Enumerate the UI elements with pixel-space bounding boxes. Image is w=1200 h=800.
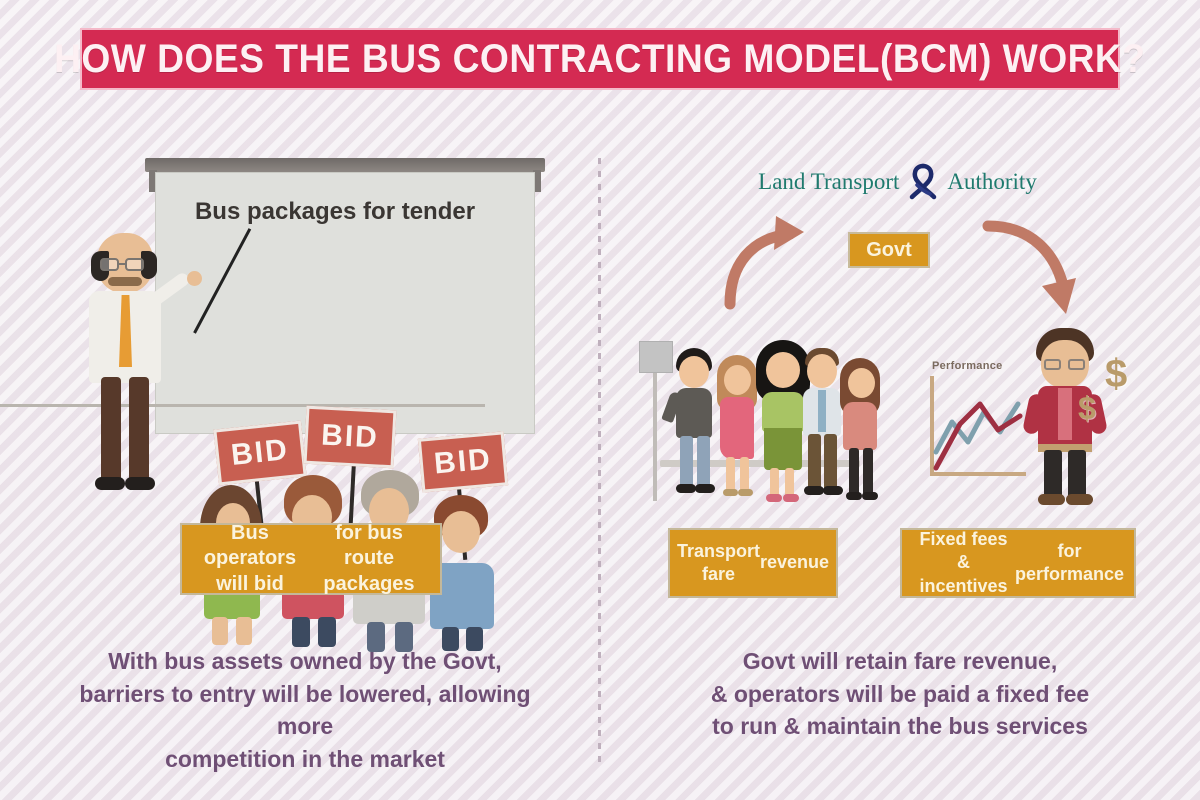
- lta-logo-text-right: Authority: [947, 169, 1036, 195]
- presenter-shoe-left: [95, 477, 125, 490]
- performance-chart: Performance: [918, 360, 1028, 485]
- operator-figure: [1022, 328, 1112, 506]
- commuter-leg: [726, 457, 735, 493]
- commuter-head: [724, 365, 751, 395]
- commuter-leg: [740, 457, 749, 493]
- caption-line: barriers to entry will be lowered, allow…: [55, 678, 555, 743]
- caption-line: With bus assets owned by the Govt,: [55, 645, 555, 678]
- commuter-top: [843, 402, 877, 450]
- screen-top-bar: [145, 158, 545, 172]
- operator-glasses-left-icon: [1044, 359, 1061, 370]
- commuter-leg: [697, 436, 710, 488]
- bidder-head: [442, 511, 480, 553]
- commuter-shoe: [804, 486, 824, 495]
- commuter-tie: [818, 390, 826, 432]
- commuter-shoe: [766, 494, 782, 502]
- arrow-govt-to-operator-icon: [978, 212, 1093, 322]
- commuter-head: [807, 354, 837, 388]
- operator-glasses-right-icon: [1068, 359, 1085, 370]
- presenter-leg-right: [129, 377, 149, 485]
- caption-box-fixed-fees: Fixed fees & incentives for performance: [900, 528, 1136, 598]
- caption-line: to run & maintain the bus services: [645, 710, 1155, 743]
- glasses-lens-left-icon: [100, 258, 119, 271]
- lta-logo-text-left: Land Transport: [758, 169, 899, 195]
- bus-stop-pole: [653, 373, 657, 501]
- presenter-hand: [187, 271, 202, 286]
- govt-badge: Govt: [848, 232, 930, 268]
- operator-shoe-right: [1066, 494, 1093, 505]
- bidder-leg: [236, 617, 252, 645]
- lta-ribbon-icon: [903, 163, 943, 201]
- caption-line: & operators will be paid a fixed fee: [645, 678, 1155, 711]
- commuter-leg: [808, 434, 821, 490]
- page-title: HOW DOES THE BUS CONTRACTING MODEL(BCM) …: [54, 37, 1145, 82]
- caption-box-transport-fare: Transport fare revenue: [668, 528, 838, 598]
- floor-line: [0, 404, 485, 407]
- caption-line: Bus operators will bid: [192, 521, 308, 598]
- commuter-dress: [720, 397, 754, 459]
- presenter-figure: [75, 225, 185, 515]
- lta-logo: Land Transport Authority: [755, 162, 1040, 202]
- commuter-body: [676, 388, 712, 438]
- caption-line: for bus route packages: [308, 521, 430, 598]
- commuter-shoe: [723, 489, 738, 496]
- whiteboard-title: Bus packages for tender: [145, 198, 525, 226]
- presenter-legs: [97, 377, 153, 487]
- bid-placard: BID: [304, 406, 397, 469]
- operator-leg-right: [1068, 450, 1086, 500]
- bidder-leg: [212, 617, 228, 645]
- bidder-leg: [292, 617, 310, 647]
- operator-shoe-left: [1038, 494, 1065, 505]
- commuter-leg: [863, 448, 873, 496]
- operator-leg-left: [1044, 450, 1062, 500]
- commuter-shoe: [846, 492, 862, 500]
- infographic-canvas: HOW DOES THE BUS CONTRACTING MODEL(BCM) …: [0, 0, 1200, 800]
- dollar-sign-icon: $: [1105, 352, 1127, 397]
- commuter-leg: [849, 448, 859, 496]
- caption-line: Transport fare: [677, 540, 760, 586]
- panel-divider: [598, 158, 601, 768]
- caption-line: competition in the market: [55, 743, 555, 776]
- bottom-caption-right: Govt will retain fare revenue, & operato…: [645, 645, 1155, 743]
- bottom-caption-left: With bus assets owned by the Govt, barri…: [55, 645, 555, 776]
- caption-line: Govt will retain fare revenue,: [645, 645, 1155, 678]
- commuter-shoe: [862, 492, 878, 500]
- glasses-bridge: [118, 263, 127, 265]
- commuter-head: [848, 368, 875, 398]
- dollar-sign-icon: $: [1078, 390, 1096, 427]
- caption-line: Fixed fees & incentives: [912, 528, 1015, 597]
- presenter-mustache: [108, 277, 142, 286]
- presenter-leg-left: [101, 377, 121, 485]
- commuter-woman-salmon: [836, 358, 886, 506]
- commuter-shoe: [738, 489, 753, 496]
- caption-line: revenue: [760, 551, 829, 574]
- presenter-shoe-right: [125, 477, 155, 490]
- commuter-head: [679, 356, 709, 388]
- caption-line: for performance: [1015, 540, 1124, 586]
- commuter-leg: [680, 436, 693, 488]
- commuter-shoe: [676, 484, 696, 493]
- glasses-lens-right-icon: [125, 258, 144, 271]
- arrow-fare-to-govt-icon: [718, 212, 828, 312]
- caption-box-bus-operators: Bus operators will bid for bus route pac…: [180, 523, 442, 595]
- projector-screen: Bus packages for tender: [145, 158, 545, 438]
- title-banner: HOW DOES THE BUS CONTRACTING MODEL(BCM) …: [80, 28, 1120, 90]
- operator-shirt: [1058, 388, 1072, 440]
- bidder-leg: [318, 617, 336, 647]
